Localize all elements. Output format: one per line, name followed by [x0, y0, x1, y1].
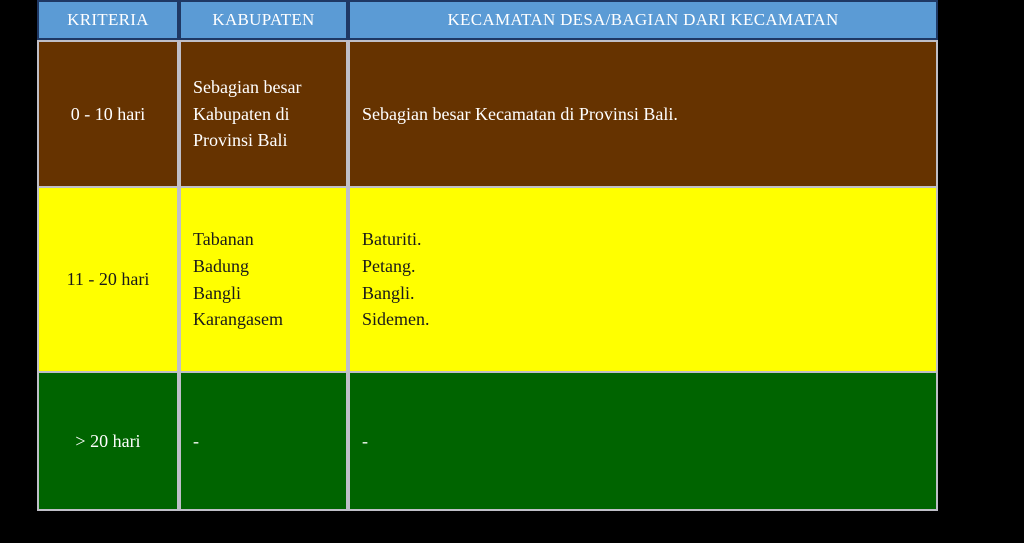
- table-header: KRITERIA KABUPATEN KECAMATAN DESA/BAGIAN…: [37, 0, 938, 40]
- cell-kabupaten: Sebagian besar Kabupaten di Provinsi Bal…: [179, 40, 348, 188]
- table-body: 0 - 10 hari Sebagian besar Kabupaten di …: [37, 40, 938, 511]
- cell-kabupaten: -: [179, 373, 348, 511]
- slide-canvas: KRITERIA KABUPATEN KECAMATAN DESA/BAGIAN…: [0, 0, 1024, 543]
- criteria-table: KRITERIA KABUPATEN KECAMATAN DESA/BAGIAN…: [37, 0, 938, 511]
- header-cell-kabupaten: KABUPATEN: [179, 0, 348, 40]
- table-row: 11 - 20 hari Tabanan Badung Bangli Karan…: [37, 188, 938, 373]
- criteria-table-container: KRITERIA KABUPATEN KECAMATAN DESA/BAGIAN…: [37, 0, 938, 511]
- cell-kriteria: > 20 hari: [37, 373, 179, 511]
- header-cell-kriteria: KRITERIA: [37, 0, 179, 40]
- cell-kriteria: 0 - 10 hari: [37, 40, 179, 188]
- table-row: 0 - 10 hari Sebagian besar Kabupaten di …: [37, 40, 938, 188]
- table-row: > 20 hari - -: [37, 373, 938, 511]
- cell-kriteria: 11 - 20 hari: [37, 188, 179, 373]
- cell-kecamatan: Baturiti. Petang. Bangli. Sidemen.: [348, 188, 938, 373]
- cell-kabupaten: Tabanan Badung Bangli Karangasem: [179, 188, 348, 373]
- header-cell-kecamatan: KECAMATAN DESA/BAGIAN DARI KECAMATAN: [348, 0, 938, 40]
- cell-kecamatan: Sebagian besar Kecamatan di Provinsi Bal…: [348, 40, 938, 188]
- cell-kecamatan: -: [348, 373, 938, 511]
- header-row: KRITERIA KABUPATEN KECAMATAN DESA/BAGIAN…: [37, 0, 938, 40]
